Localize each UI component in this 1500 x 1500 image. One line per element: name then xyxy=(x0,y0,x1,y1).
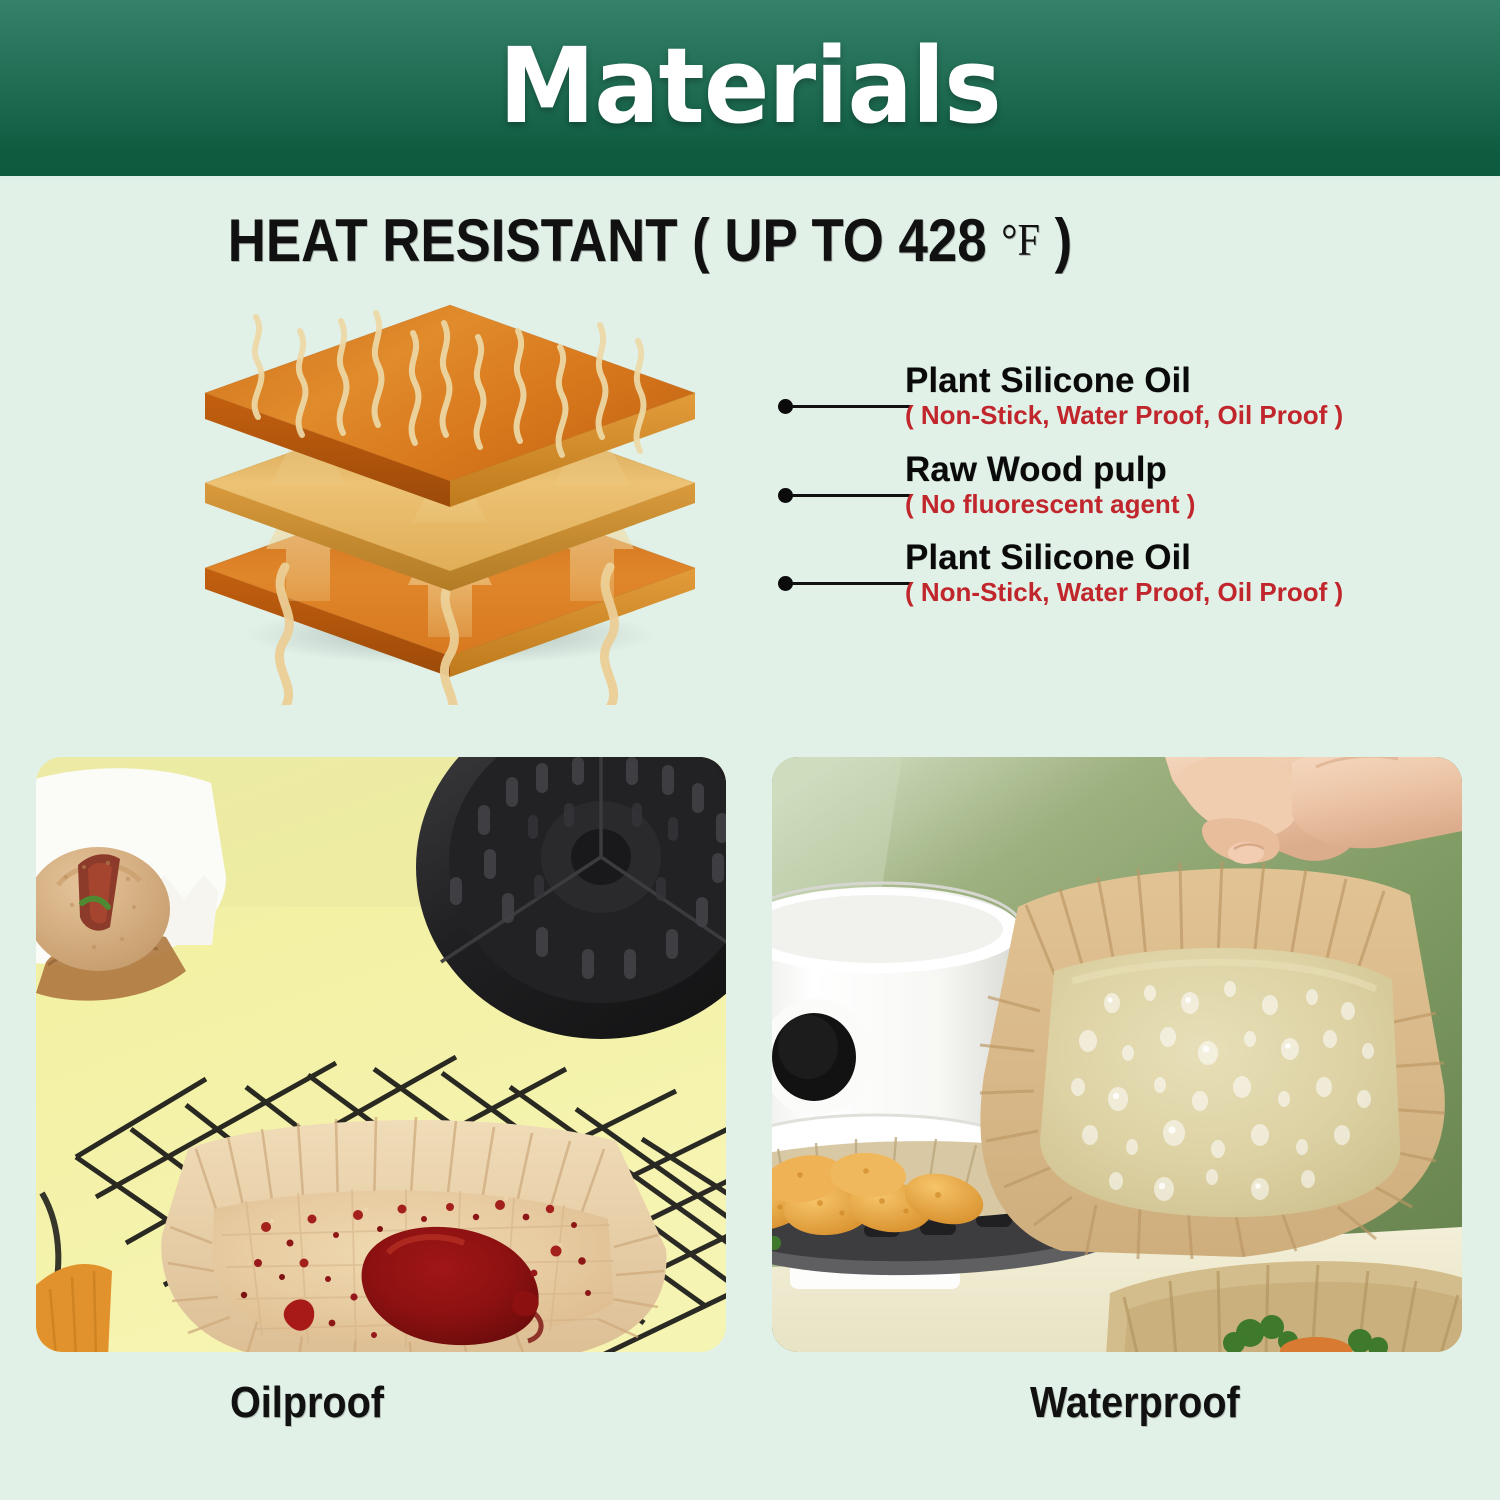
layer-diagram xyxy=(150,285,870,705)
degree-fahrenheit-icon: °F xyxy=(1001,214,1040,265)
page-title: Materials xyxy=(499,34,1001,138)
liner-face xyxy=(1040,948,1400,1217)
parchment-liner-water xyxy=(980,861,1445,1259)
leader-line-middle xyxy=(792,494,910,497)
liner-sliver xyxy=(36,1264,112,1352)
page-header: Materials xyxy=(0,0,1500,176)
callout-subtitle: ( No fluorescent agent ) xyxy=(905,491,1195,518)
leader-dot-bottom xyxy=(778,576,793,591)
callout-plant-silicone-oil-top: Plant Silicone Oil ( Non-Stick, Water Pr… xyxy=(905,363,1343,429)
callout-plant-silicone-oil-bottom: Plant Silicone Oil ( Non-Stick, Water Pr… xyxy=(905,540,1343,606)
callout-title: Plant Silicone Oil xyxy=(905,363,1343,399)
callout-subtitle: ( Non-Stick, Water Proof, Oil Proof ) xyxy=(905,579,1343,606)
leader-dot-middle xyxy=(778,488,793,503)
callout-title: Plant Silicone Oil xyxy=(905,540,1343,576)
leader-line-top xyxy=(792,405,910,408)
heat-resistant-title: HEAT RESISTANT ( UP TO 428 °F ) xyxy=(78,206,1222,275)
caption-waterproof: Waterproof xyxy=(1030,1378,1240,1428)
parchment-liner-oil xyxy=(161,1117,666,1352)
callout-raw-wood-pulp: Raw Wood pulp ( No fluorescent agent ) xyxy=(905,452,1195,518)
leader-dot-top xyxy=(778,399,793,414)
callout-title: Raw Wood pulp xyxy=(905,452,1195,488)
photo-oilproof xyxy=(36,757,726,1352)
callout-subtitle: ( Non-Stick, Water Proof, Oil Proof ) xyxy=(905,402,1343,429)
caption-oilproof: Oilproof xyxy=(230,1378,384,1428)
header-divider xyxy=(0,176,1500,180)
heat-title-suffix: ) xyxy=(1040,207,1072,274)
photo-waterproof xyxy=(772,757,1462,1352)
heat-title-prefix: HEAT RESISTANT ( UP TO 428 xyxy=(228,207,1002,274)
leader-line-bottom xyxy=(792,582,910,585)
